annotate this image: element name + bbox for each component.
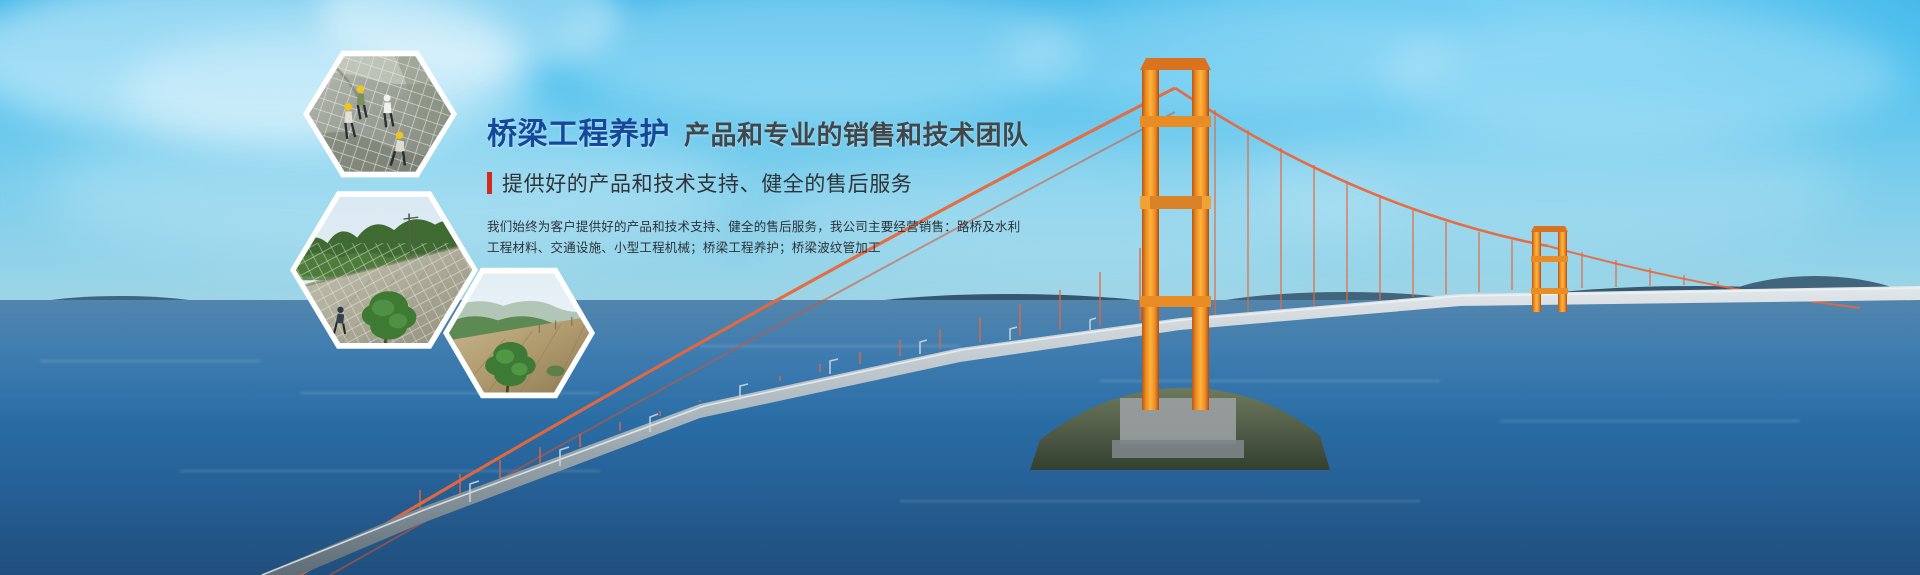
subtitle-text: 提供好的产品和技术支持、健全的售后服务: [502, 168, 912, 198]
hero-banner: 桥梁工程养护产品和专业的销售和技术团队 提供好的产品和技术支持、健全的售后服务 …: [0, 0, 1920, 575]
body-paragraph: 我们始终为客户提供好的产品和技术支持、健全的售后服务，我公司主要经营销售：路桥及…: [487, 217, 1047, 259]
banner-copy: 桥梁工程养护产品和专业的销售和技术团队 提供好的产品和技术支持、健全的售后服务 …: [487, 118, 1047, 259]
headline-primary: 桥梁工程养护: [487, 118, 670, 151]
subtitle-row: 提供好的产品和技术支持、健全的售后服务: [487, 168, 1047, 198]
page-title: 桥梁工程养护产品和专业的销售和技术团队: [487, 118, 1047, 151]
accent-bar-icon: [487, 172, 492, 194]
headline-secondary: 产品和专业的销售和技术团队: [684, 120, 1029, 150]
suspension-bridge: [0, 0, 1920, 575]
bridge-main-tower: [1140, 58, 1211, 410]
body-line: 工程材料、交通设施、小型工程机械；桥梁工程养护；桥梁波纹管加工: [487, 238, 1047, 259]
body-line: 我们始终为客户提供好的产品和技术支持、健全的售后服务，我公司主要经营销售：路桥及…: [487, 217, 1047, 238]
